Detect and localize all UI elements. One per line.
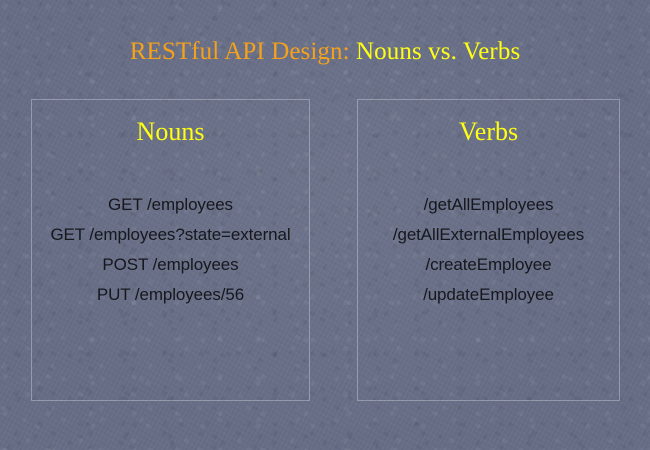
list-item: GET /employees?state=external: [32, 220, 309, 250]
presentation-slide: RESTful API Design: Nouns vs. Verbs Noun…: [0, 0, 650, 450]
column-nouns-list: GET /employees GET /employees?state=exte…: [32, 190, 309, 310]
list-item: POST /employees: [32, 250, 309, 280]
column-verbs: Verbs /getAllEmployees /getAllExternalEm…: [357, 99, 620, 401]
column-verbs-header: Verbs: [358, 116, 619, 148]
column-nouns: Nouns GET /employees GET /employees?stat…: [31, 99, 310, 401]
page-title-primary: RESTful API Design:: [130, 38, 356, 65]
list-item: /getAllExternalEmployees: [358, 220, 619, 250]
list-item: /getAllEmployees: [358, 190, 619, 220]
list-item: /updateEmployee: [358, 280, 619, 310]
page-title-accent: Nouns vs. Verbs: [356, 38, 520, 65]
column-verbs-list: /getAllEmployees /getAllExternalEmployee…: [358, 190, 619, 310]
list-item: /createEmployee: [358, 250, 619, 280]
column-nouns-header: Nouns: [32, 116, 309, 148]
list-item: GET /employees: [32, 190, 309, 220]
page-title: RESTful API Design: Nouns vs. Verbs: [0, 36, 650, 68]
list-item: PUT /employees/56: [32, 280, 309, 310]
